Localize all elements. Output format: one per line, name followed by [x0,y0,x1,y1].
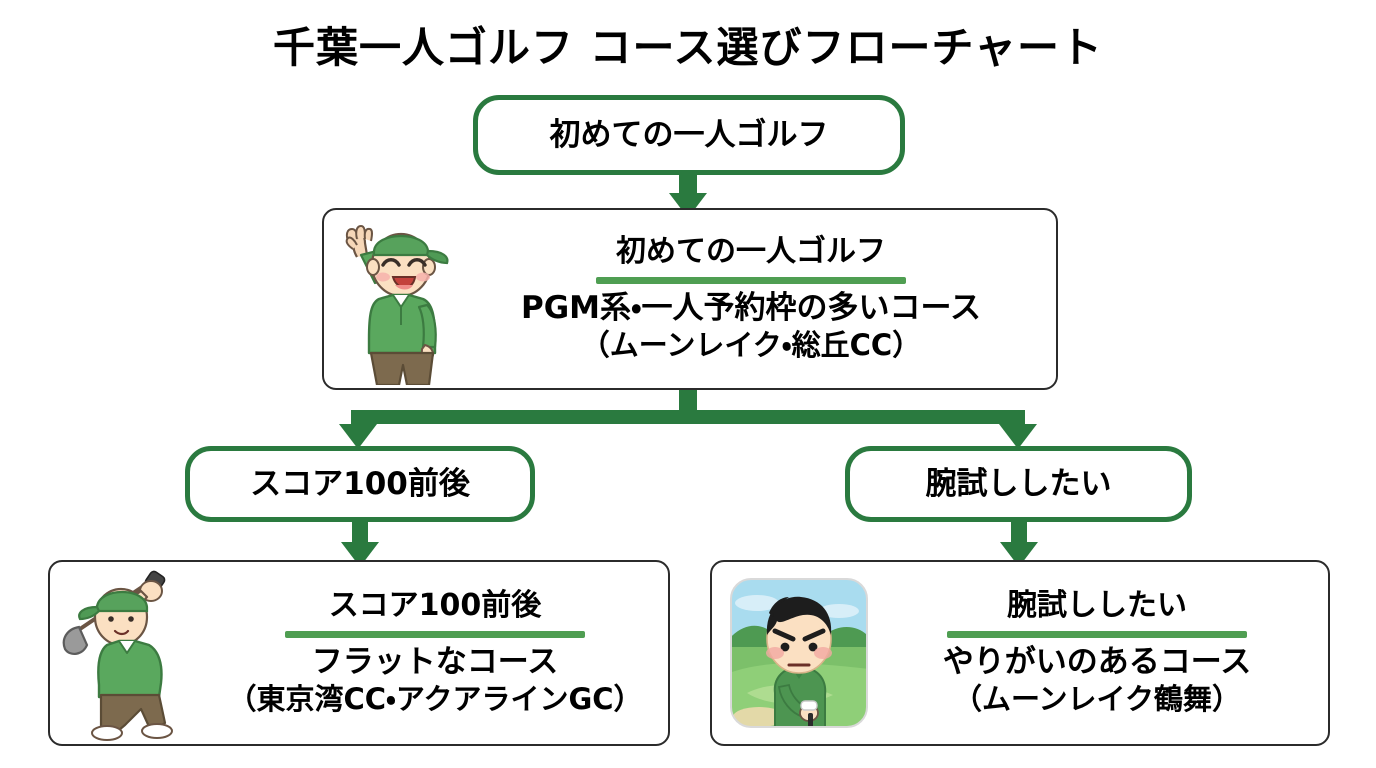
card-beginner-course[interactable]: 初めての一人ゴルフ PGM系・一人予約枠の多いコース （ムーンレイク・総丘CC） [322,208,1058,390]
node-score-around-100[interactable]: スコア100前後 [185,446,535,522]
card-beginner-divider [596,277,906,284]
card-beginner-line1: PGM系・一人予約枠の多いコース [521,290,981,328]
connector-split-bus [351,410,1025,424]
card-flat-heading: スコア100前後 [329,589,542,624]
card-tough-body: 腕試ししたい やりがいのあるコース （ムーンレイク鶴舞） [874,589,1328,718]
card-flat-divider [285,631,585,638]
card-flat-line1: フラットなコース [312,644,558,682]
card-beginner-heading: 初めての一人ゴルフ [616,235,886,270]
card-flat-course[interactable]: スコア100前後 フラットなコース （東京湾CC・アクアラインGC） [48,560,670,746]
card-tough-line1: やりがいのあるコース [943,644,1251,682]
card-flat-line2: （東京湾CC・アクアラインGC） [227,682,642,717]
page-title: 千葉一人ゴルフ コース選びフローチャート [0,14,1376,75]
serious-golfer-illustration [712,563,874,743]
card-tough-line2: （ムーンレイク鶴舞） [953,682,1241,717]
card-beginner-body: 初めての一人ゴルフ PGM系・一人予約枠の多いコース （ムーンレイク・総丘CC） [454,235,1056,364]
node-start-label: 初めての一人ゴルフ [550,118,829,152]
card-tough-divider [947,631,1247,638]
node-test-your-skill[interactable]: 腕試ししたい [845,446,1192,522]
flowchart-canvas: 千葉一人ゴルフ コース選びフローチャート 初めての一人ゴルフ [0,0,1376,768]
node-challenge-label: 腕試ししたい [926,467,1112,501]
card-flat-body: スコア100前後 フラットなコース （東京湾CC・アクアラインGC） [210,589,668,718]
card-tough-heading: 腕試ししたい [1007,589,1187,624]
card-tough-course[interactable]: 腕試ししたい やりがいのあるコース （ムーンレイク鶴舞） [710,560,1330,746]
swinging-golfer-illustration [50,563,210,743]
node-score-label: スコア100前後 [250,467,470,501]
waving-golfer-illustration [324,210,454,388]
card-beginner-line2: （ムーンレイク・総丘CC） [581,328,921,363]
node-start-beginner-golf[interactable]: 初めての一人ゴルフ [473,95,905,175]
